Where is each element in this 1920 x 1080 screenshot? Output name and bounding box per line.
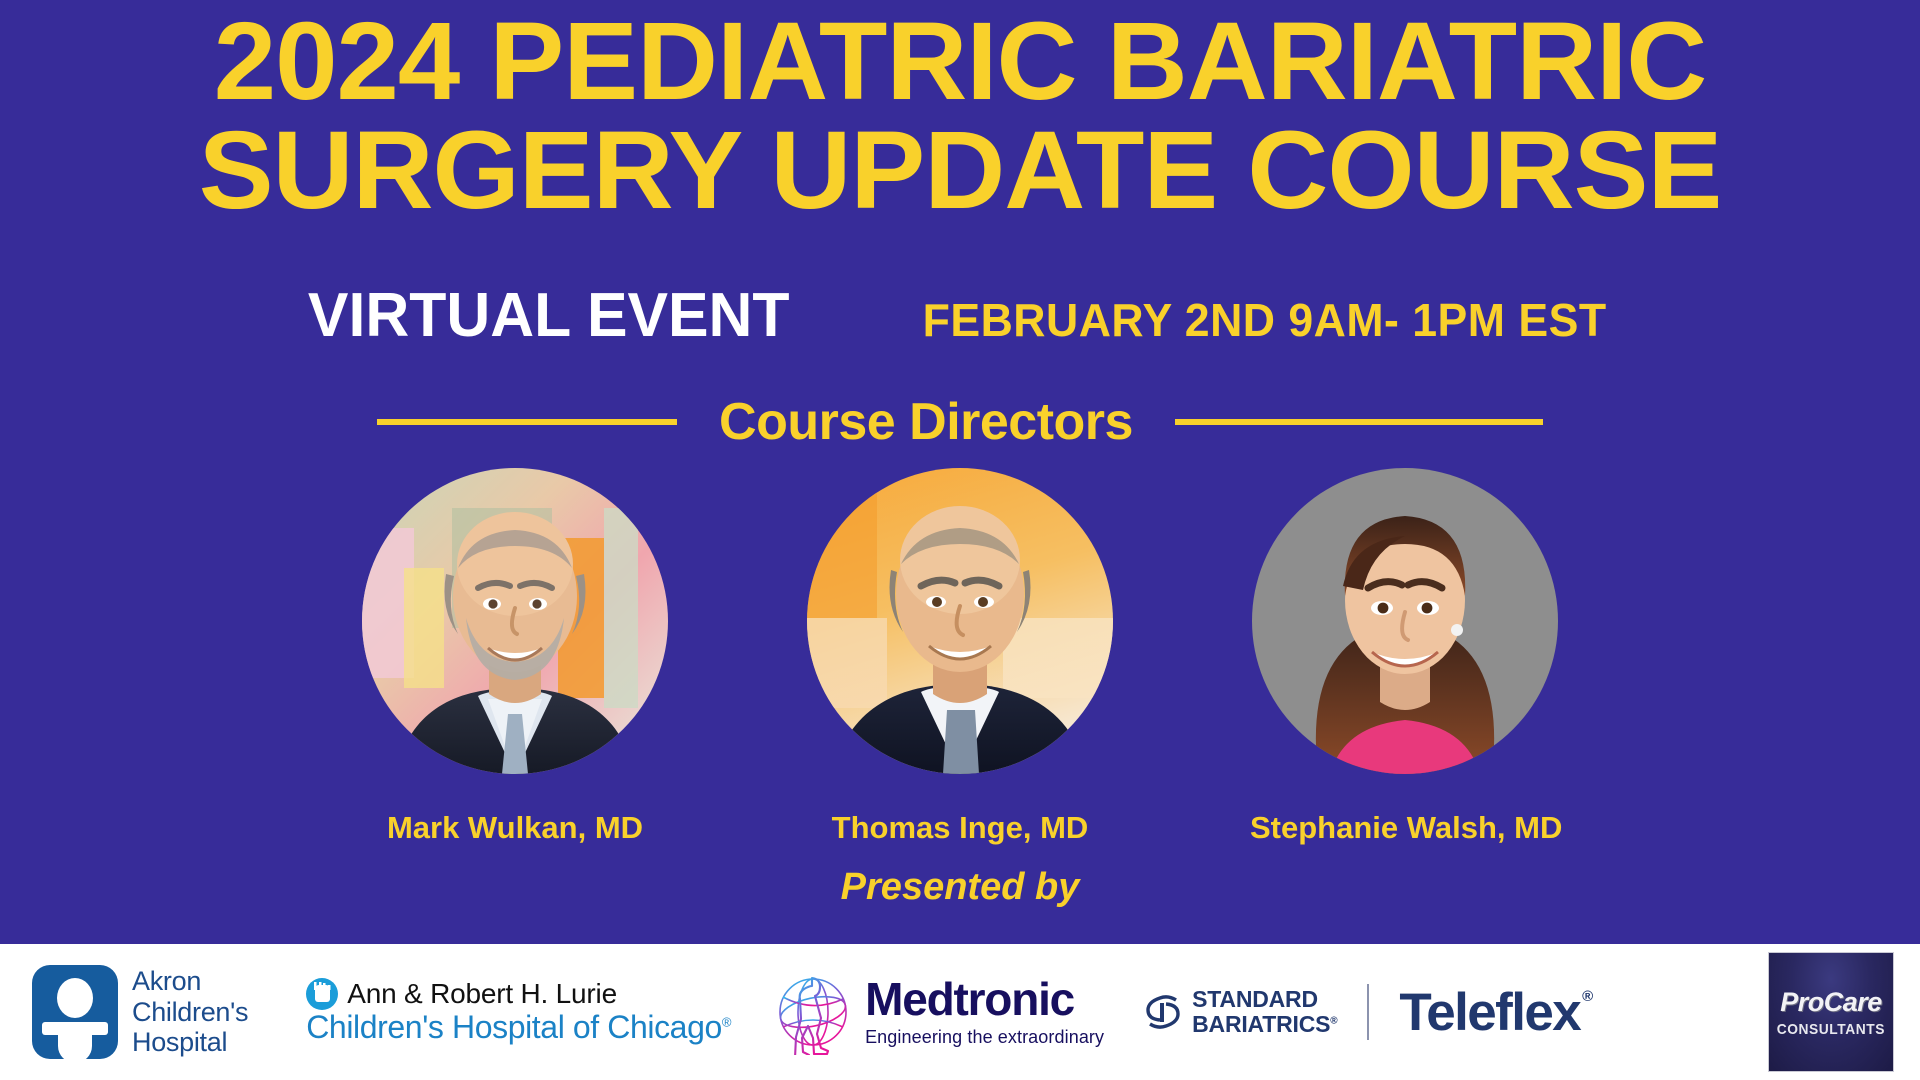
standard-bariatrics-line-2: BARIATRICS®	[1192, 1012, 1337, 1037]
sponsor-logo-lurie-childrens-hospital[interactable]: Ann & Robert H. Lurie Children's Hospita…	[306, 978, 731, 1046]
director-card: Thomas Inge, MD	[805, 468, 1115, 846]
teleflex-wordmark: Teleflex	[1399, 982, 1580, 1043]
procare-line-2: CONSULTANTS	[1777, 1021, 1885, 1038]
title-line-2: SURGERY UPDATE COURSE	[0, 117, 1920, 226]
standard-bariatrics-line-1: STANDARD	[1192, 987, 1337, 1012]
sponsor-logo-standard-bariatrics[interactable]: STANDARD BARIATRICS®	[1142, 987, 1337, 1037]
akron-line-2: Children's	[132, 997, 248, 1028]
sponsor-logo-bar: Akron Children's Hospital Ann & Robert H…	[0, 944, 1920, 1080]
sponsor-logo-procare-consultants[interactable]: ProCare CONSULTANTS	[1768, 952, 1894, 1072]
sponsor-logo-teleflex[interactable]: Teleflex ®	[1399, 982, 1591, 1043]
director-card: Stephanie Walsh, MD	[1250, 468, 1560, 846]
event-subtitle-row: VIRTUAL EVENT FEBRUARY 2ND 9AM- 1PM EST	[0, 280, 1920, 351]
sponsor-logo-akron-childrens-hospital[interactable]: Akron Children's Hospital	[32, 965, 248, 1059]
standard-bariatrics-wordmark: STANDARD BARIATRICS®	[1192, 987, 1337, 1037]
divider-rule-right	[1175, 419, 1543, 425]
headshot-thomas-inge-icon	[807, 468, 1113, 774]
course-directors-label: Course Directors	[719, 392, 1133, 452]
avatar	[1252, 468, 1558, 774]
lurie-line-1: Ann & Robert H. Lurie	[347, 978, 617, 1010]
medtronic-globe-icon	[771, 969, 855, 1055]
course-directors-heading: Course Directors	[0, 392, 1920, 452]
standard-bariatrics-registered-mark: ®	[1330, 1015, 1337, 1026]
event-date-label: FEBRUARY 2ND 9AM- 1PM EST	[923, 293, 1607, 347]
lurie-line-2: Children's Hospital of Chicago®	[306, 1009, 731, 1046]
medtronic-tagline: Engineering the extraordinary	[865, 1027, 1104, 1048]
avatar	[807, 468, 1113, 774]
divider-rule-left	[377, 419, 677, 425]
director-card: Mark Wulkan, MD	[360, 468, 670, 846]
lurie-hand-icon	[306, 978, 338, 1010]
title-line-1: 2024 PEDIATRIC BARIATRIC	[0, 8, 1920, 117]
headshot-mark-wulkan-icon	[362, 468, 668, 774]
event-type-label: VIRTUAL EVENT	[308, 280, 790, 351]
avatar	[362, 468, 668, 774]
teleflex-registered-mark: ®	[1582, 988, 1591, 1005]
akron-line-3: Hospital	[132, 1027, 248, 1058]
course-directors-list: Mark Wulkan, MD	[0, 468, 1920, 846]
director-name: Stephanie Walsh, MD	[1250, 810, 1560, 846]
sponsor-logo-medtronic[interactable]: Medtronic Engineering the extraordinary	[771, 969, 1104, 1055]
akron-wordmark: Akron Children's Hospital	[132, 966, 248, 1058]
director-name: Thomas Inge, MD	[805, 810, 1115, 846]
standard-bariatrics-s-icon	[1142, 991, 1184, 1033]
headshot-stephanie-walsh-icon	[1252, 468, 1558, 774]
akron-baby-icon	[32, 965, 118, 1059]
medtronic-wordmark: Medtronic	[865, 976, 1104, 1022]
director-name: Mark Wulkan, MD	[360, 810, 670, 846]
page-title: 2024 PEDIATRIC BARIATRIC SURGERY UPDATE …	[0, 8, 1920, 226]
procare-line-1: ProCare	[1780, 987, 1882, 1018]
akron-line-1: Akron	[132, 966, 248, 997]
sponsor-divider	[1367, 984, 1369, 1040]
presented-by-label: Presented by	[0, 866, 1920, 909]
lurie-registered-mark: ®	[722, 1014, 731, 1029]
